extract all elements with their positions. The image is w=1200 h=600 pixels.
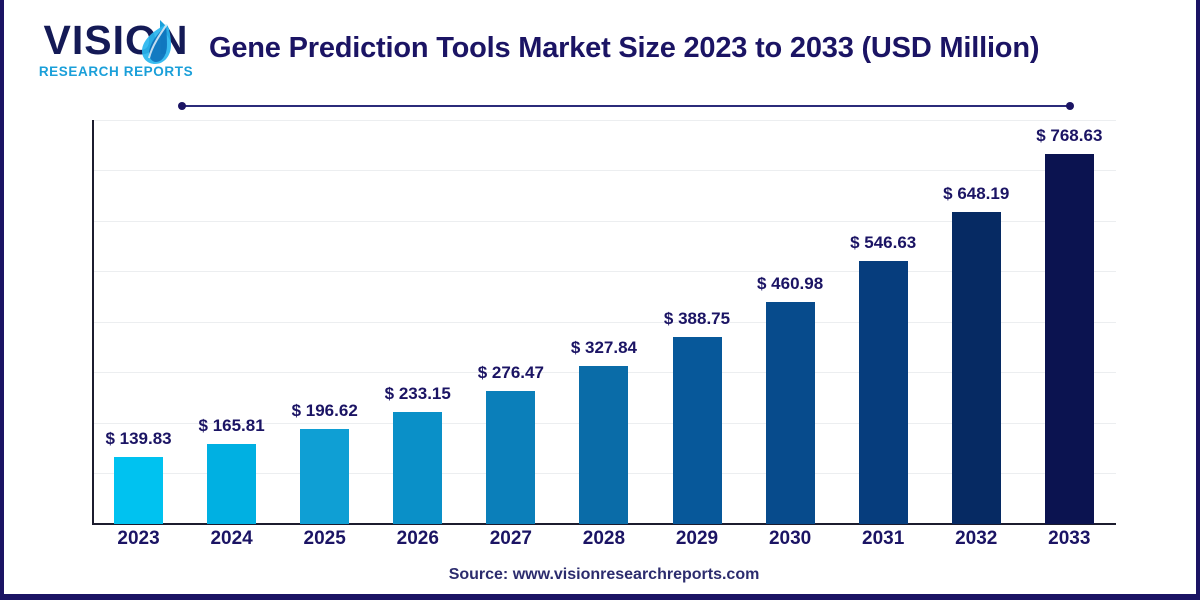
title-divider xyxy=(176,97,1076,105)
bar xyxy=(766,302,815,524)
x-axis-tick-label: 2023 xyxy=(92,528,185,550)
x-axis-labels: 2023202420252026202720282029203020312032… xyxy=(92,528,1116,550)
brand-logo: VISION RESEARCH REPORTS xyxy=(26,12,206,84)
bar xyxy=(859,261,908,524)
bar-series: $ 139.83$ 165.81$ 196.62$ 233.15$ 276.47… xyxy=(92,120,1116,524)
bar xyxy=(952,212,1001,524)
bar-group: $ 388.75 xyxy=(651,120,744,524)
brand-tagline: RESEARCH REPORTS xyxy=(26,64,206,79)
x-axis-tick-label: 2024 xyxy=(185,528,278,550)
x-axis-tick-label: 2029 xyxy=(651,528,744,550)
bar xyxy=(393,412,442,524)
bar-group: $ 460.98 xyxy=(744,120,837,524)
chart-page: VISION RESEARCH REPORTS Gene Prediction … xyxy=(0,0,1200,600)
bar xyxy=(673,337,722,524)
x-axis-tick-label: 2031 xyxy=(837,528,930,550)
x-axis-tick-label: 2026 xyxy=(371,528,464,550)
x-axis-tick-label: 2027 xyxy=(464,528,557,550)
bar-group: $ 139.83 xyxy=(92,120,185,524)
footer-bar xyxy=(4,594,1200,600)
x-axis-tick-label: 2032 xyxy=(930,528,1023,550)
bar-group: $ 276.47 xyxy=(464,120,557,524)
x-axis-tick-label: 2028 xyxy=(557,528,650,550)
bar-group: $ 768.63 xyxy=(1023,120,1116,524)
bar xyxy=(486,391,535,524)
x-axis-tick-label: 2033 xyxy=(1023,528,1116,550)
bar xyxy=(1045,154,1094,524)
bar-group: $ 648.19 xyxy=(930,120,1023,524)
page-header: VISION RESEARCH REPORTS Gene Prediction … xyxy=(4,0,1200,96)
bar-group: $ 196.62 xyxy=(278,120,371,524)
bar-group: $ 165.81 xyxy=(185,120,278,524)
bar-group: $ 233.15 xyxy=(371,120,464,524)
bar xyxy=(300,429,349,524)
bar-chart-plot: $ 139.83$ 165.81$ 196.62$ 233.15$ 276.47… xyxy=(92,120,1116,524)
bar-group: $ 546.63 xyxy=(837,120,930,524)
x-axis-tick-label: 2025 xyxy=(278,528,371,550)
brand-name: VISION xyxy=(26,18,206,62)
bar xyxy=(207,444,256,524)
x-axis-tick-label: 2030 xyxy=(744,528,837,550)
bar xyxy=(579,366,628,524)
leaf-arrow-icon xyxy=(130,18,174,66)
bar xyxy=(114,457,163,524)
source-note: Source: www.visionresearchreports.com xyxy=(4,566,1200,584)
bar-value-label: $ 768.63 xyxy=(1001,126,1138,146)
page-title: Gene Prediction Tools Market Size 2023 t… xyxy=(209,28,1184,68)
